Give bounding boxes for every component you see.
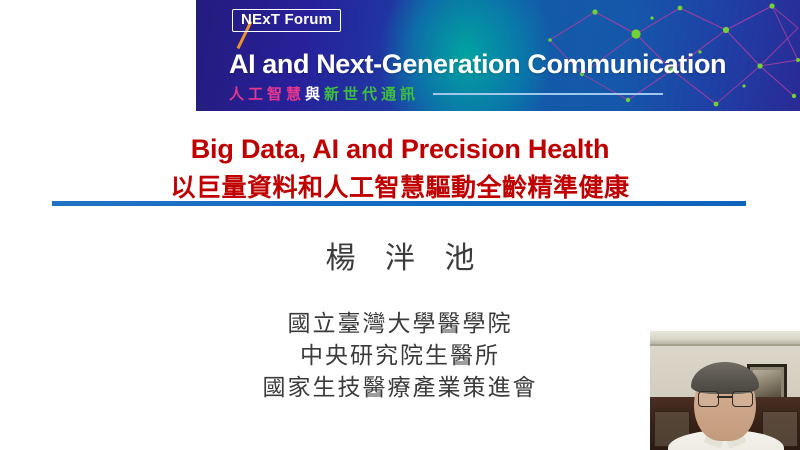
slide-title-english: Big Data, AI and Precision Health — [0, 134, 800, 165]
banner-title-chinese-comm: 新世代通訊 — [324, 83, 419, 104]
banner-title-chinese-ai: 人工智慧 — [229, 83, 305, 104]
webcam-video-overlay[interactable] — [650, 331, 800, 450]
video-presenter-glasses-bridge — [717, 396, 732, 398]
video-presenter-glasses-left — [698, 391, 719, 407]
presentation-slide: NExT Forum AI and Next-Generation Commun… — [0, 0, 800, 450]
banner-title-english: AI and Next-Generation Communication — [229, 49, 726, 80]
video-presenter-glasses-right — [732, 391, 753, 407]
slide-title-chinese: 以巨量資料和人工智慧驅動全齡精準健康 — [0, 168, 800, 204]
banner-rule — [433, 93, 663, 95]
banner-title-chinese: 人工智慧 與 新世代通訊 — [229, 83, 663, 104]
speaker-name: 楊 泮 池 — [0, 233, 800, 277]
banner-title-chinese-and: 與 — [305, 83, 324, 104]
next-forum-logo: NExT Forum — [232, 9, 341, 32]
title-divider — [52, 201, 746, 206]
event-banner: NExT Forum AI and Next-Generation Commun… — [196, 0, 800, 111]
video-ceiling — [650, 331, 800, 346]
